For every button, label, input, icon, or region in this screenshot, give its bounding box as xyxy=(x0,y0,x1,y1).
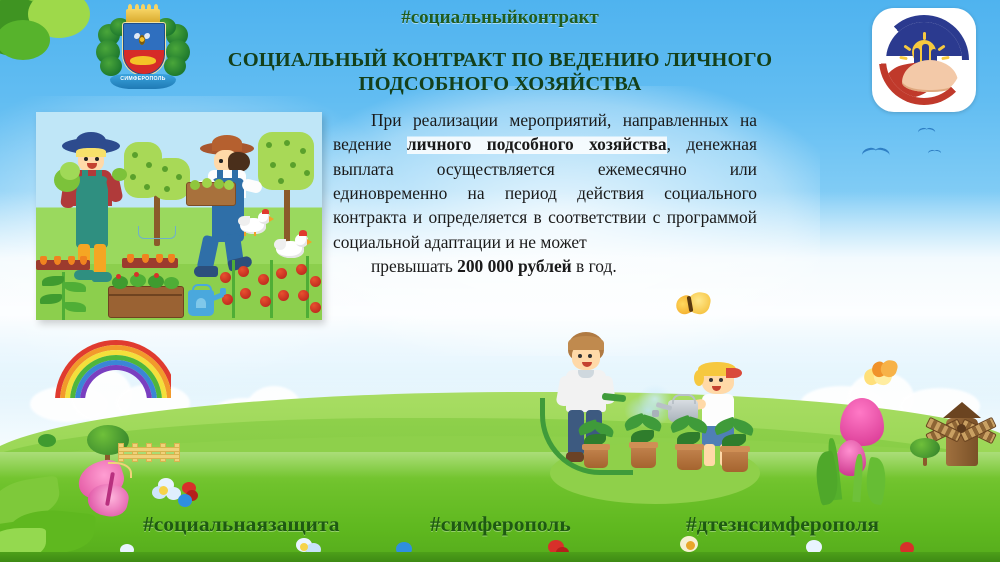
tomato-plants xyxy=(218,260,318,320)
potted-plant xyxy=(576,422,616,470)
paragraph-highlight: личного подсобного хозяйства xyxy=(407,134,667,154)
kids-watering-illustration xyxy=(540,330,770,510)
body-paragraph: При реализации мероприятий, направленных… xyxy=(333,108,757,279)
top-hashtag: #социальныйконтракт xyxy=(0,7,1000,29)
bee-icon xyxy=(136,32,148,45)
potted-plant xyxy=(622,416,664,470)
tulip-cluster-right xyxy=(820,398,910,503)
fence xyxy=(118,443,180,461)
paragraph-amount-line: превышать 200 000 рублей в год. xyxy=(333,254,757,278)
carrot-bed xyxy=(122,248,178,268)
amphora-icon xyxy=(130,56,156,65)
page-title: СОЦИАЛЬНЫЙ КОНТРАКТ ПО ВЕДЕНИЮ ЛИЧНОГО П… xyxy=(215,49,785,97)
amount-prefix: превышать xyxy=(371,256,457,276)
shield-icon xyxy=(122,22,166,76)
paragraph-main: При реализации мероприятий, направленных… xyxy=(333,108,757,254)
landscape-tree-small xyxy=(38,434,56,452)
hand-icon xyxy=(902,60,958,92)
amount-suffix: в год. xyxy=(572,256,617,276)
carrot-bed xyxy=(36,250,90,270)
amount-value: 200 000 рублей xyxy=(457,256,572,276)
farm-illustration xyxy=(36,112,322,320)
bottom-hashtags: #социальнаязащита #симферополь #дтезнсим… xyxy=(0,512,1000,546)
bean-plant xyxy=(38,272,90,320)
chicken xyxy=(274,234,310,260)
title-line-2: ПОДСОБНОГО ХОЗЯЙСТВА xyxy=(215,73,785,97)
hashtag-simferopol: #симферополь xyxy=(430,512,571,537)
butterfly-orange xyxy=(872,360,898,384)
watering-can xyxy=(182,282,224,318)
rainbow xyxy=(55,340,171,398)
apple-tree xyxy=(124,136,190,246)
hashtag-social-protection: #социальнаязащита xyxy=(143,512,339,537)
strawberry-crate xyxy=(108,272,182,316)
chicken xyxy=(238,212,272,236)
title-line-1: СОЦИАЛЬНЫЙ КОНТРАКТ ПО ВЕДЕНИЮ ЛИЧНОГО xyxy=(215,49,785,73)
poster-canvas: СИМФЕРОПОЛЬ xyxy=(0,0,1000,562)
potted-plant xyxy=(712,420,756,474)
potted-plant xyxy=(668,418,710,472)
butterfly-yellow xyxy=(676,292,710,322)
landscape-tree-right xyxy=(910,438,940,466)
logo-inner xyxy=(886,22,962,98)
hashtag-dtezn: #дтезнсимферополя xyxy=(686,512,879,537)
coat-of-arms-ribbon-text: СИМФЕРОПОЛЬ xyxy=(110,76,176,82)
coat-of-arms-ribbon: СИМФЕРОПОЛЬ xyxy=(110,74,176,89)
